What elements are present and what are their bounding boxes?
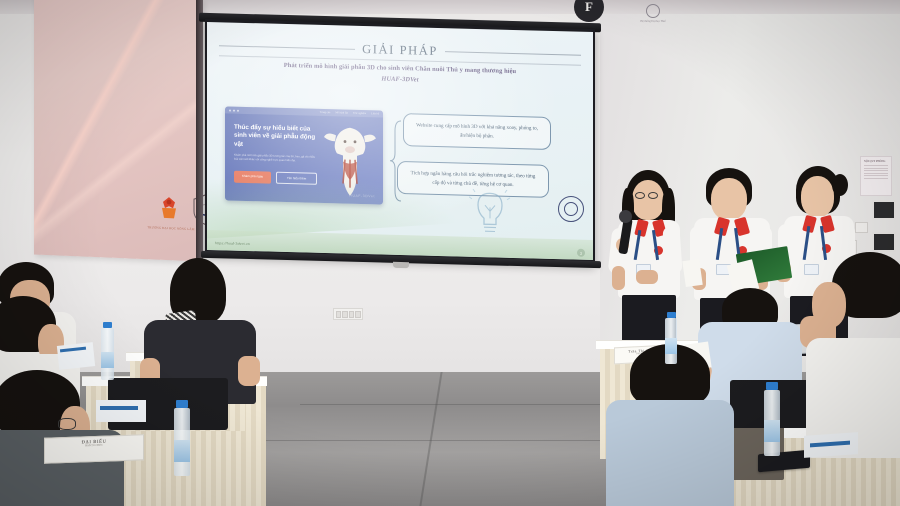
microphone-head-icon	[619, 210, 632, 223]
slide-page-number: 3	[577, 249, 585, 257]
bottle-cap	[766, 382, 778, 390]
photo-scene: TRƯỜNG ĐẠI HỌC NÔNG LÂM F Hệ thống Đại h…	[0, 0, 900, 506]
switch-toggle[interactable]	[336, 311, 342, 318]
title-rule-left	[219, 45, 355, 50]
forearm-left	[612, 266, 625, 290]
banner-caption: TRƯỜNG ĐẠI HỌC NÔNG LÂM	[146, 225, 196, 231]
mockup-nav-item: Mô hình 3D	[335, 111, 348, 114]
mockup-nav-item: Trắc nghiệm	[353, 112, 366, 115]
glasses-icon	[58, 418, 76, 430]
wall-circular-logo-icon	[558, 196, 584, 222]
logo-ring-icon	[646, 4, 660, 18]
face	[632, 180, 664, 220]
wall-frame	[872, 200, 896, 220]
solution-bubble-1: Website cung cấp mô hình 3D với khả năng…	[403, 113, 551, 150]
namecard-delegate-left: ĐẠI BIỂU BAN TỔ CHỨC	[44, 434, 144, 463]
lightbulb-icon	[469, 189, 511, 238]
browser-dot-icon	[229, 109, 231, 111]
university-emblem-icon	[156, 194, 182, 225]
mockup-headline: Thúc đẩy sự hiểu biết của sinh viên về g…	[234, 124, 316, 151]
handout-paper	[57, 342, 95, 370]
mockup-nav-item: Liên hệ	[371, 112, 379, 115]
water-bottle	[664, 312, 679, 364]
wall-light-switch-panel[interactable]	[333, 308, 363, 320]
face	[711, 178, 747, 220]
arm-right	[238, 356, 260, 386]
hand-right	[636, 270, 658, 284]
mockup-subtext: Khám phá mô hình giải phẫu 3D tương tác …	[234, 154, 320, 164]
switch-toggle[interactable]	[349, 311, 355, 318]
top-logo-text: Hệ thống Đại học Huế	[638, 20, 668, 24]
event-banner: TRƯỜNG ĐẠI HỌC NÔNG LÂM	[34, 0, 202, 262]
mockup-browser-bar: Trang chủ Mô hình 3D Trắc nghiệm Liên hệ	[225, 106, 383, 117]
audience-member-black-top	[140, 258, 260, 398]
audience-member-right-foreground	[818, 252, 900, 452]
torso	[606, 400, 734, 506]
water-bottle	[762, 382, 782, 456]
handheld-paper	[682, 259, 702, 287]
notice-title: NỘI QUY PHÒNG	[864, 160, 888, 163]
top-badge-letter: F	[585, 0, 593, 15]
banner-edge	[196, 0, 203, 260]
bottle-label	[101, 352, 114, 368]
title-rule-right	[445, 51, 581, 56]
presentation-slide: GIẢI PHÁP Phát triển mô hình giải phẫu 3…	[207, 22, 593, 260]
arm-right	[662, 225, 682, 274]
water-bottle	[172, 400, 192, 476]
slide-brand-name: HUAF-3DVet	[225, 70, 575, 90]
water-bottle	[100, 322, 116, 380]
browser-dot-icon	[233, 109, 235, 111]
mockup-nav-item: Trang chủ	[320, 111, 331, 114]
bottle-label	[764, 420, 780, 442]
bottle-cap	[176, 400, 188, 408]
glasses-icon	[635, 192, 645, 199]
bottle-label	[665, 338, 677, 354]
wall-frame	[872, 232, 896, 252]
browser-dot-icon	[237, 109, 239, 111]
slide-title: GIẢI PHÁP	[362, 42, 438, 59]
handout-accent	[100, 406, 138, 410]
switch-toggle[interactable]	[355, 311, 361, 318]
bottle-label	[174, 440, 190, 462]
hair-bun	[832, 174, 848, 196]
switch-toggle[interactable]	[342, 311, 348, 318]
handout-paper	[96, 400, 146, 422]
mockup-nav: Trang chủ Mô hình 3D Trắc nghiệm Liên hệ	[320, 111, 379, 116]
id-badge	[804, 264, 819, 275]
glasses-icon	[648, 192, 658, 199]
top-university-logo: Hệ thống Đại học Huế	[638, 4, 668, 30]
audience-member-center-front	[600, 344, 740, 506]
face	[801, 176, 834, 217]
